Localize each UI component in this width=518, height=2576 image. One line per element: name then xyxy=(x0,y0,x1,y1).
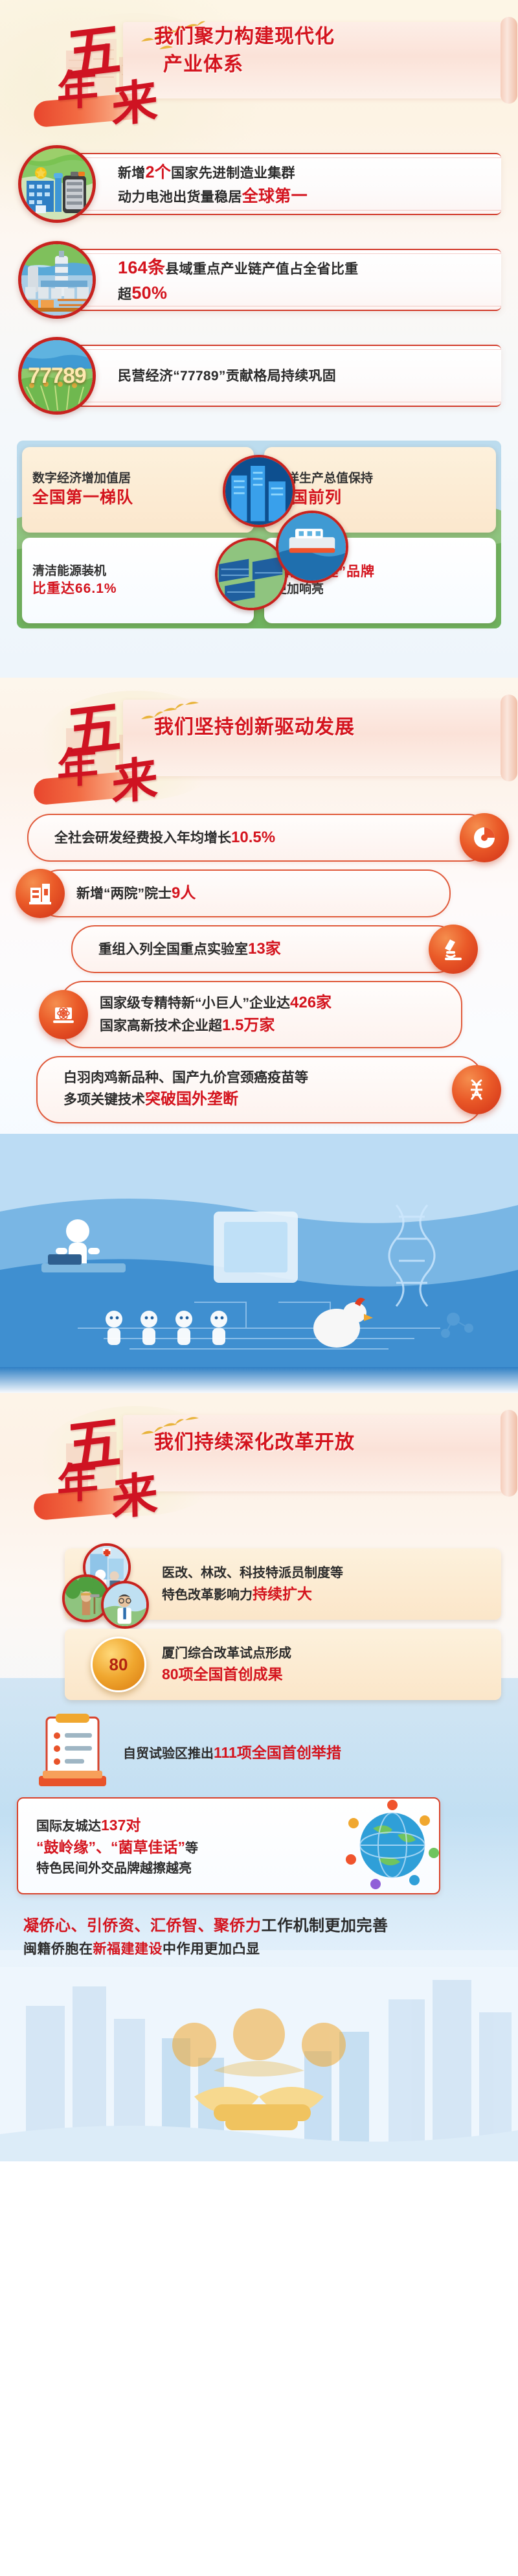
innovation-item-rd-spending: 全社会研发经费投入年均增长10.5% xyxy=(27,814,491,862)
row-line-2-num: 50% xyxy=(131,283,167,303)
row-text: 164条县域重点产业链产值占全省比重 超50% xyxy=(118,253,496,308)
reform-card-ftz-measures: 自贸试验区推出111项全国首创举措 xyxy=(26,1717,501,1788)
innovation-item-academicians: 新增“两院”院士9人 xyxy=(36,869,451,917)
innovation-item-key-labs: 重组入列全国重点实验室13家 xyxy=(71,925,460,973)
section-industry-title: 我们聚力构建现代化 产业体系 xyxy=(154,23,335,78)
row-line-2-num: 全球第一 xyxy=(242,187,308,205)
industry-quad-grid: 数字经济增加值居 全国第一梯队 海洋生产总值保持 全国前列 清洁能源装机 比重达… xyxy=(17,441,501,628)
industry-rows: 新增2个国家先进制造业集群 动力电池出货量稳居全球第一 xyxy=(0,130,518,430)
quad-card-highlight: 比重达66.1% xyxy=(32,580,243,598)
quad-card-digital-economy: 数字经济增加值居 全国第一梯队 xyxy=(22,447,254,533)
academy-building-icon xyxy=(16,869,65,918)
private-economy-number: 77789 xyxy=(21,340,93,411)
item-line-1: 白羽肉鸡新品种、国产九价宫颈癌疫苗等 xyxy=(63,1068,308,1088)
reform-card-text: 国际友城达137对 “鼓岭缘”、“菌草佳话”等 特色民间外交品牌越擦越亮 xyxy=(18,1805,208,1887)
row-line-2: 超50% xyxy=(118,282,496,305)
microscope-icon xyxy=(429,925,478,974)
innovation-item-tech-breakthrough: 白羽肉鸡新品种、国产九价宫颈癌疫苗等 多项关键技术突破国外垄断 xyxy=(36,1056,483,1123)
title-line-1: 我们聚力构建现代化 xyxy=(154,26,335,47)
atom-laptop-icon xyxy=(39,990,88,1039)
reform-cards: 医改、林改、科技特派员制度等 特色改革影响力持续扩大 80 厦门综合改革试点形成… xyxy=(0,1548,518,1967)
row-line-1-num: 164条 xyxy=(118,258,165,277)
final-line-1: 凝侨心、引侨资、汇侨智、聚侨力工作机制更加完善 xyxy=(23,1914,495,1938)
final-line-2: 闽籍侨胞在新福建建设中作用更加凸显 xyxy=(23,1938,495,1961)
document-list-icon xyxy=(36,1714,117,1791)
row-line-1-num: 2个 xyxy=(146,163,172,181)
item-text-num: 9人 xyxy=(172,884,196,902)
card-line-2: 80项全国首创成果 xyxy=(162,1663,291,1686)
calligraphy-char-lai: 来 xyxy=(111,62,158,130)
title-line-1: 我们坚持创新驱动发展 xyxy=(154,717,355,738)
eighty-items-badge: 80 xyxy=(91,1637,146,1692)
card-line-2-post: 等 xyxy=(185,1841,198,1856)
card-line-1: 国际友城达137对 xyxy=(36,1814,198,1837)
item-line-2: 国家高新技术企业超1.5万家 xyxy=(100,1015,332,1037)
item-text-pre: 新增“两院”院士 xyxy=(76,886,172,901)
digital-economy-icon xyxy=(223,455,295,527)
section-industry-header: 五 年 来 我们聚力构建现代化 产业体系 xyxy=(0,0,518,130)
card-line-3: 特色民间外交品牌越擦越亮 xyxy=(36,1859,198,1878)
card-line-2-num: 持续扩大 xyxy=(253,1585,312,1602)
item-line-1: 国家级专精特新“小巨人”企业达426家 xyxy=(100,992,332,1015)
title-line-2: 产业体系 xyxy=(154,51,335,79)
reform-card-special-reforms: 医改、林改、科技特派员制度等 特色改革影响力持续扩大 xyxy=(65,1548,501,1620)
section-reform-header: 五 年 来 我们持续深化改革开放 xyxy=(0,1393,518,1523)
item-line-1-num: 426家 xyxy=(290,994,332,1011)
card-line-1-num: 111项全国首创举措 xyxy=(214,1744,341,1761)
card-line-1-pre: 国际友城达 xyxy=(36,1819,101,1834)
row-line-1-post: 县域重点产业链产值占全省比重 xyxy=(165,262,358,277)
infographic-poster: 五 年 来 我们聚力构建现代化 产业体系 xyxy=(0,0,518,2161)
section-industry: 五 年 来 我们聚力构建现代化 产业体系 xyxy=(0,0,518,678)
final-line-2-highlight: 新福建建设 xyxy=(93,1942,163,1957)
industry-row: 77789 民营经济“77789”贡献格局持续巩固 xyxy=(0,330,518,421)
calligraphy-char-nian: 年 xyxy=(57,1448,98,1512)
card-line-1: 自贸试验区推出111项全国首创举措 xyxy=(123,1742,341,1764)
item-line-2-num: 突破国外垄断 xyxy=(145,1090,238,1108)
quad-card-highlight: 全国第一梯队 xyxy=(32,487,243,509)
reform-icon-cluster xyxy=(61,1541,158,1626)
row-line-2-pre: 动力电池出货量稳居 xyxy=(118,190,242,205)
quad-card-caption: 清洁能源装机 xyxy=(32,563,243,581)
item-text: 白羽肉鸡新品种、国产九价宫颈癌疫苗等 多项关键技术突破国外垄断 xyxy=(38,1062,325,1117)
private-economy-icon: 77789 xyxy=(18,337,96,415)
item-line-2-pre: 国家高新技术企业超 xyxy=(100,1018,222,1033)
row-text: 民营经济“77789”贡献格局持续巩固 xyxy=(118,349,496,404)
globe-friendship-icon xyxy=(342,1797,445,1894)
item-text: 重组入列全国重点实验室13家 xyxy=(73,932,298,967)
item-line-2-num: 1.5万家 xyxy=(222,1017,275,1034)
card-line-2: 特色改革影响力持续扩大 xyxy=(162,1583,343,1605)
item-text: 国家级专精特新“小巨人”企业达426家 国家高新技术企业超1.5万家 xyxy=(61,985,348,1044)
item-line-1-pre: 国家级专精特新“小巨人”企业达 xyxy=(100,996,290,1011)
innovation-items: 全社会研发经费投入年均增长10.5% 新增“两院”院士9人 重组入列全国重点实验… xyxy=(0,807,518,1134)
item-text-pre: 重组入列全国重点实验室 xyxy=(98,942,248,957)
quad-card-caption: 数字经济增加值居 xyxy=(32,470,243,488)
factory-battery-icon xyxy=(18,145,96,223)
dna-icon xyxy=(452,1065,501,1114)
quad-card-highlight: 全国前列 xyxy=(275,487,486,509)
marine-economy-icon xyxy=(276,511,348,583)
card-line-1: 医改、林改、科技特派员制度等 xyxy=(162,1563,343,1583)
calligraphy-char-nian: 年 xyxy=(57,733,98,796)
quad-card-caption: 海洋生产总值保持 xyxy=(275,470,486,488)
row-line-2-pre: 超 xyxy=(118,287,131,302)
card-line-1-num: 137对 xyxy=(101,1817,141,1834)
final-line-1-rest: 工作机制更加完善 xyxy=(262,1917,388,1935)
section-reform: 五 年 来 我们持续深化改革开放 xyxy=(0,1393,518,2161)
item-text: 全社会研发经费投入年均增长10.5% xyxy=(28,820,292,856)
sci-tech-commissioner-icon xyxy=(101,1581,149,1629)
quad-card-caption: 更加响亮 xyxy=(275,581,486,599)
calligraphy-char-lai: 来 xyxy=(111,739,158,807)
innovation-item-specialized-firms: 国家级专精特新“小巨人”企业达426家 国家高新技术企业超1.5万家 xyxy=(60,981,462,1048)
row-line-1-pre: 新增 xyxy=(118,166,146,181)
row-line-1: 民营经济“77789”贡献格局持续巩固 xyxy=(118,368,496,385)
handshake-gold-illustration xyxy=(0,1967,518,2161)
reform-final-statement: 凝侨心、引侨资、汇侨智、聚侨力工作机制更加完善 闽籍侨胞在新福建建设中作用更加凸… xyxy=(17,1903,501,1967)
card-line-1-pre: 自贸试验区推出 xyxy=(123,1747,214,1761)
section-innovation-header: 五 年 来 我们坚持创新驱动发展 xyxy=(0,678,518,807)
calligraphy-char-nian: 年 xyxy=(57,55,98,119)
tech-lab-robots-illustration xyxy=(0,1134,518,1367)
item-line-2: 多项关键技术突破国外垄断 xyxy=(63,1088,308,1111)
final-line-2-pre: 闽籍侨胞在 xyxy=(23,1942,93,1957)
pie-chart-icon xyxy=(460,813,509,862)
calligraphy-char-lai: 来 xyxy=(111,1455,158,1523)
item-line-2-pre: 多项关键技术 xyxy=(63,1092,145,1107)
industrial-plant-icon xyxy=(18,241,96,319)
item-text-num: 13家 xyxy=(248,940,281,958)
row-line-1: 164条县域重点产业链产值占全省比重 xyxy=(118,257,496,279)
card-line-1: 厦门综合改革试点形成 xyxy=(162,1644,291,1663)
item-text-num: 10.5% xyxy=(231,829,275,846)
section-reform-title: 我们持续深化改革开放 xyxy=(154,1429,355,1457)
industry-row: 164条县域重点产业链产值占全省比重 超50% xyxy=(0,235,518,325)
section-innovation-title: 我们坚持创新驱动发展 xyxy=(154,714,355,742)
badge-number: 80 xyxy=(109,1655,128,1675)
card-line-2: “鼓岭缘”、“菌草佳话”等 xyxy=(36,1836,198,1859)
final-line-1-highlight: 凝侨心、引侨资、汇侨智、聚侨力 xyxy=(23,1917,262,1935)
reform-card-sister-cities: 国际友城达137对 “鼓岭缘”、“菌草佳话”等 特色民间外交品牌越擦越亮 xyxy=(17,1797,440,1894)
card-line-2-pre: “鼓岭缘”、“菌草佳话” xyxy=(36,1839,185,1856)
title-line-1: 我们持续深化改革开放 xyxy=(154,1432,355,1453)
row-line-1: 新增2个国家先进制造业集群 xyxy=(118,163,496,183)
final-line-2-post: 中作用更加凸显 xyxy=(163,1942,260,1957)
reform-card-xiamen-pilot: 80 厦门综合改革试点形成 80项全国首创成果 xyxy=(65,1629,501,1700)
section-innovation: 五 年 来 我们坚持创新驱动发展 全社会研发经费投入年均增长10.5% xyxy=(0,678,518,1393)
row-text: 新增2个国家先进制造业集群 动力电池出货量稳居全球第一 xyxy=(118,157,496,213)
row-line-1-post: 国家先进制造业集群 xyxy=(171,166,295,181)
card-line-2-pre: 特色改革影响力 xyxy=(162,1588,253,1602)
industry-row: 新增2个国家先进制造业集群 动力电池出货量稳居全球第一 xyxy=(0,139,518,229)
item-text-pre: 全社会研发经费投入年均增长 xyxy=(54,831,231,845)
row-line-2: 动力电池出货量稳居全球第一 xyxy=(118,187,496,207)
card-line-2-num: 80项全国首创成果 xyxy=(162,1666,283,1683)
